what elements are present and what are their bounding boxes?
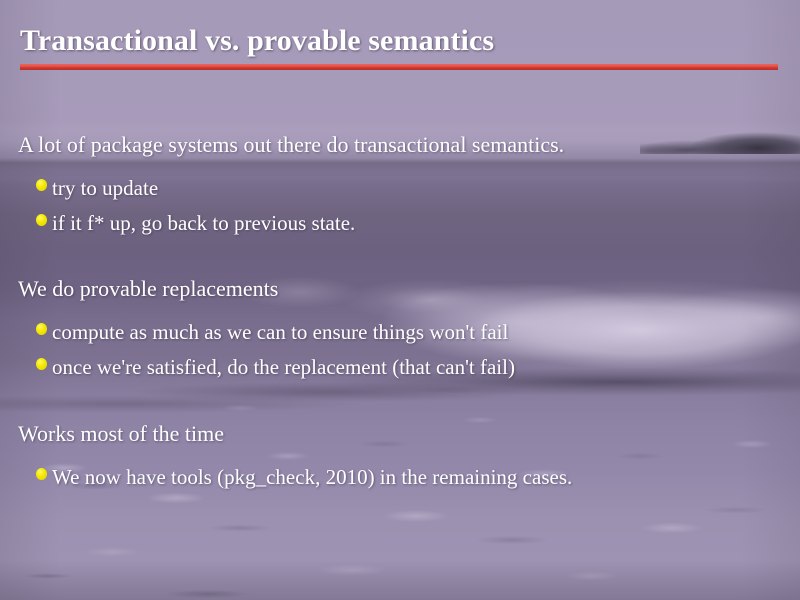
bullet-dot-icon [36,468,47,480]
bullet-item: once we're satisfied, do the replacement… [36,350,800,384]
bullet-item: if it f* up, go back to previous state. [36,206,800,240]
bullet-label: We now have tools (pkg_check, 2010) in t… [52,460,572,494]
bullet-dot-icon [36,179,47,191]
content-block-1: A lot of package systems out there do tr… [0,131,800,240]
bullet-dot-icon [36,358,47,370]
title-underline-rule [20,64,778,70]
bullet-label: compute as much as we can to ensure thin… [52,315,508,349]
bullet-label: if it f* up, go back to previous state. [52,206,355,240]
bullet-item: compute as much as we can to ensure thin… [36,315,800,349]
block-heading: We do provable replacements [18,275,800,303]
presentation-slide: Transactional vs. provable semantics A l… [0,0,800,600]
block-heading: A lot of package systems out there do tr… [18,131,800,159]
content-block-3: Works most of the time We now have tools… [0,420,800,494]
slide-content: Transactional vs. provable semantics A l… [0,0,800,600]
bullet-item: try to update [36,171,800,205]
bullet-label: once we're satisfied, do the replacement… [52,350,515,384]
block-heading: Works most of the time [18,420,800,448]
bullet-item: We now have tools (pkg_check, 2010) in t… [36,460,800,494]
slide-title: Transactional vs. provable semantics [20,24,494,58]
content-block-2: We do provable replacements compute as m… [0,275,800,384]
bullet-label: try to update [52,171,158,205]
bullet-dot-icon [36,214,47,226]
bullet-dot-icon [36,323,47,335]
